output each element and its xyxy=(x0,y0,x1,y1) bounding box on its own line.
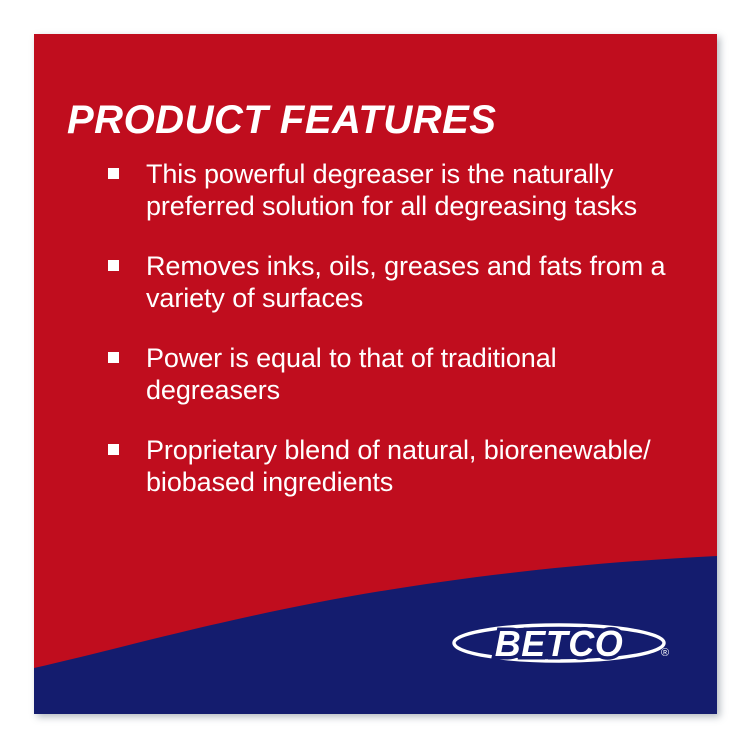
feature-text: Power is equal to that of traditional de… xyxy=(146,342,668,406)
list-item: This powerful degreaser is the naturally… xyxy=(108,158,668,222)
feature-text: Proprietary blend of natural, biorenewab… xyxy=(146,434,668,498)
page-title: PRODUCT FEATURES xyxy=(67,100,496,140)
list-item: Power is equal to that of traditional de… xyxy=(108,342,668,406)
betco-wordmark: BETCO xyxy=(495,623,624,664)
square-bullet-icon xyxy=(108,444,119,455)
square-bullet-icon xyxy=(108,260,119,271)
square-bullet-icon xyxy=(108,352,119,363)
feature-text: This powerful degreaser is the naturally… xyxy=(146,158,668,222)
feature-list: This powerful degreaser is the naturally… xyxy=(108,158,668,498)
list-item: Proprietary blend of natural, biorenewab… xyxy=(108,434,668,498)
feature-text: Removes inks, oils, greases and fats fro… xyxy=(146,250,668,314)
product-feature-card-canvas: PRODUCT FEATURES This powerful degreaser… xyxy=(0,0,750,750)
square-bullet-icon xyxy=(108,168,119,179)
product-features-card: PRODUCT FEATURES This powerful degreaser… xyxy=(34,34,717,714)
registered-trademark-icon: ® xyxy=(661,647,669,659)
betco-logo: BETCO ® xyxy=(451,620,675,666)
list-item: Removes inks, oils, greases and fats fro… xyxy=(108,250,668,314)
